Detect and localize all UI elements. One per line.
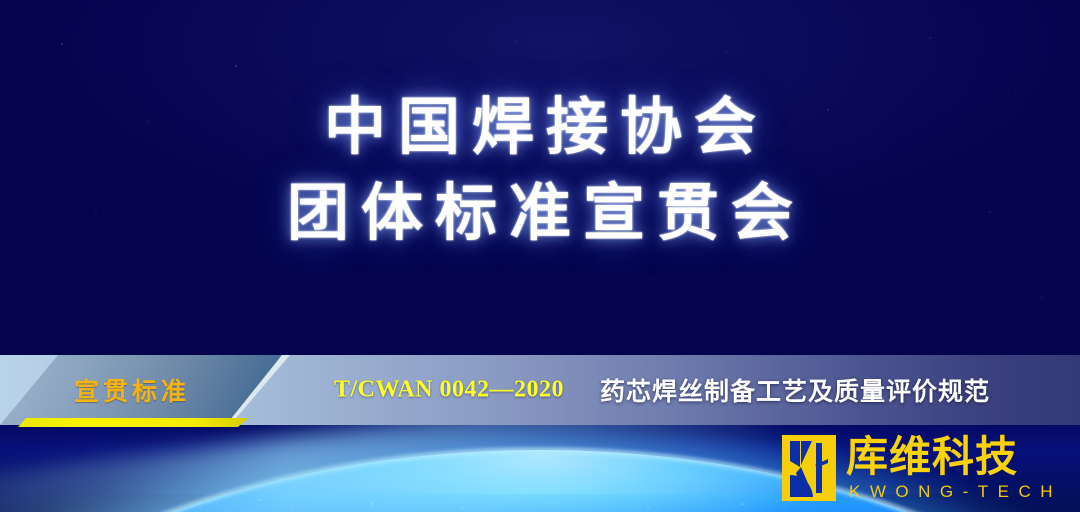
standard-code: T/CWAN 0042—2020: [334, 377, 564, 404]
logo-k-mark-icon: [782, 435, 836, 501]
logo-name-en: KWONG-TECH: [849, 482, 1062, 502]
banner-underline: [0, 418, 260, 427]
logo-name-cn: 库维科技: [846, 434, 1062, 480]
banner-tab-label: 宣贯标准: [74, 372, 190, 408]
company-logo: 库维科技 KWONG-TECH: [782, 434, 1062, 502]
title-line-2: 团体标准宣贯会: [0, 182, 1080, 244]
title-line-1: 中国焊接协会: [0, 96, 1080, 158]
event-title: 中国焊接协会 中国焊接协会 团体标准宣贯会 团体标准宣贯会: [0, 96, 1080, 244]
standard-banner: 宣贯标准 T/CWAN 0042—2020 药芯焊丝制备工艺及质量评价规范: [0, 355, 1080, 425]
logo-text-group: 库维科技 KWONG-TECH: [846, 434, 1062, 502]
standard-name: 药芯焊丝制备工艺及质量评价规范: [600, 372, 990, 408]
title-slide: 中国焊接协会 中国焊接协会 团体标准宣贯会 团体标准宣贯会: [0, 0, 1080, 512]
